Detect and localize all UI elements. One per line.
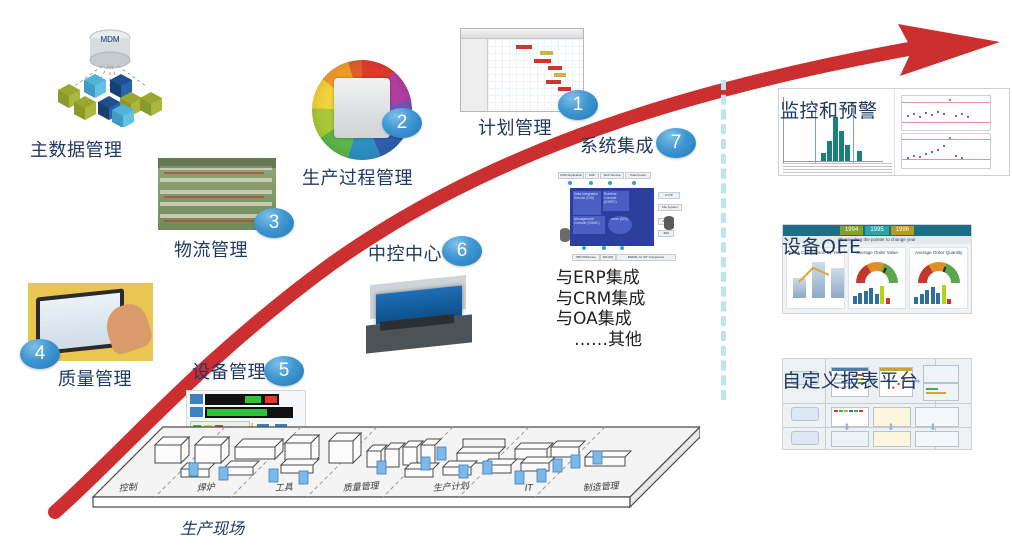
chip-bdmxl: BDMXL for SIT Component (616, 254, 676, 261)
chip-sap: SAP (585, 172, 599, 179)
mdm-illustration: MDM (50, 22, 170, 127)
badge-2: 2 (382, 108, 422, 138)
module-logistics[interactable]: 3 物流管理 (158, 158, 232, 184)
module-label-production-process: 生产过程管理 (302, 164, 413, 190)
chip-jms: JMS (658, 230, 674, 237)
integration-line-other: ……其他 (556, 330, 680, 351)
module-plan[interactable]: 1 计划管理 (460, 28, 534, 54)
shopfloor-caption: 生产现场 (180, 515, 244, 539)
chip-teamcenter: TeamCenter (625, 172, 651, 179)
module-label-plan: 计划管理 (478, 114, 552, 140)
module-quality[interactable]: 4 质量管理 (28, 283, 102, 309)
module-production-process[interactable]: 2 生产过程管理 (308, 60, 419, 186)
badge-5: 5 (264, 356, 304, 386)
module-label-mdm: 主数据管理 (30, 136, 150, 162)
svg-text:MDM: MDM (100, 35, 119, 44)
inner-box-dsipc: Runtime Console (DSIPC) (603, 191, 629, 211)
shopfloor-zone-0: 控制 (118, 482, 139, 494)
integration-feature-list: 与ERP集成 与CRM集成 与OA集成 ……其他 (556, 268, 680, 351)
oee-mini-revenue-bars (853, 284, 890, 304)
panel-label-report: 自定义报表平台 (782, 366, 919, 393)
panel-report[interactable]: ➡ ➡ ⬇ ⬇ ⬇ (782, 358, 919, 385)
module-control-center[interactable]: 中控中心 6 (368, 240, 486, 346)
control-room-illustration (364, 274, 482, 354)
shopfloor-zone-2: 工具 (274, 482, 294, 494)
chip-ms-mq: MS MQ (600, 254, 616, 261)
panel-label-monitoring: 监控和预警 (780, 96, 878, 123)
chip-http: HTTP (658, 192, 680, 199)
chip-web-service: Web Service (600, 172, 624, 179)
integration-line-crm: 与CRM集成 (556, 289, 680, 310)
badge-3: 3 (254, 208, 294, 238)
panel-oee[interactable]: 1994 1995 1996 Please drag the pointer t… (782, 224, 861, 251)
oee-mini-qty-bars (914, 284, 951, 304)
oee-year-1996[interactable]: 1996 (891, 226, 914, 235)
inner-box-dsmc: Management Console (DSMC) (573, 216, 605, 234)
badge-1: 1 (558, 90, 598, 120)
shopfloor-illustration: 控制 焊炉 工具 质量管理 生产计划 IT 制造管理 (85, 425, 700, 525)
oee-card-title-aoq: Average Order Quantity (910, 248, 967, 255)
oee-year-1995[interactable]: 1995 (865, 226, 888, 235)
integration-line-erp: 与ERP集成 (556, 268, 680, 289)
integration-architecture-diagram: COM Application SAP Web Service TeamCent… (556, 166, 680, 262)
panel-monitoring[interactable]: 监控和预警 (778, 88, 876, 115)
shopfloor-zone-1: 焊炉 (196, 482, 216, 494)
badge-6: 6 (442, 236, 482, 266)
chip-com-application: COM Application (558, 172, 584, 179)
module-label-logistics: 物流管理 (174, 236, 248, 262)
panel-label-oee: 设备OEE (782, 232, 861, 259)
inner-box-dis: Data Integration Service (DIS) (573, 191, 601, 215)
module-system-integration[interactable]: 系统集成 7 COM Application SAP Web Service T… (556, 132, 680, 337)
badge-4: 4 (20, 339, 60, 369)
badge-7: 7 (656, 128, 696, 158)
section-divider (721, 80, 726, 400)
chip-file-system: File System (658, 204, 682, 211)
inner-box-server: Server (DIS) (608, 216, 632, 234)
module-mdm[interactable]: MDM 主数据管理 (38, 22, 158, 158)
diagram-canvas: MDM 主数据管理 2 生产过程管理 (0, 0, 1012, 547)
module-label-quality: 质量管理 (58, 365, 132, 391)
integration-line-oa: 与OA集成 (556, 309, 680, 330)
oee-card-avg-order-qty: Average Order Quantity (909, 247, 968, 309)
chip-ibm-wsseries: IBM WSSeries (572, 254, 600, 261)
